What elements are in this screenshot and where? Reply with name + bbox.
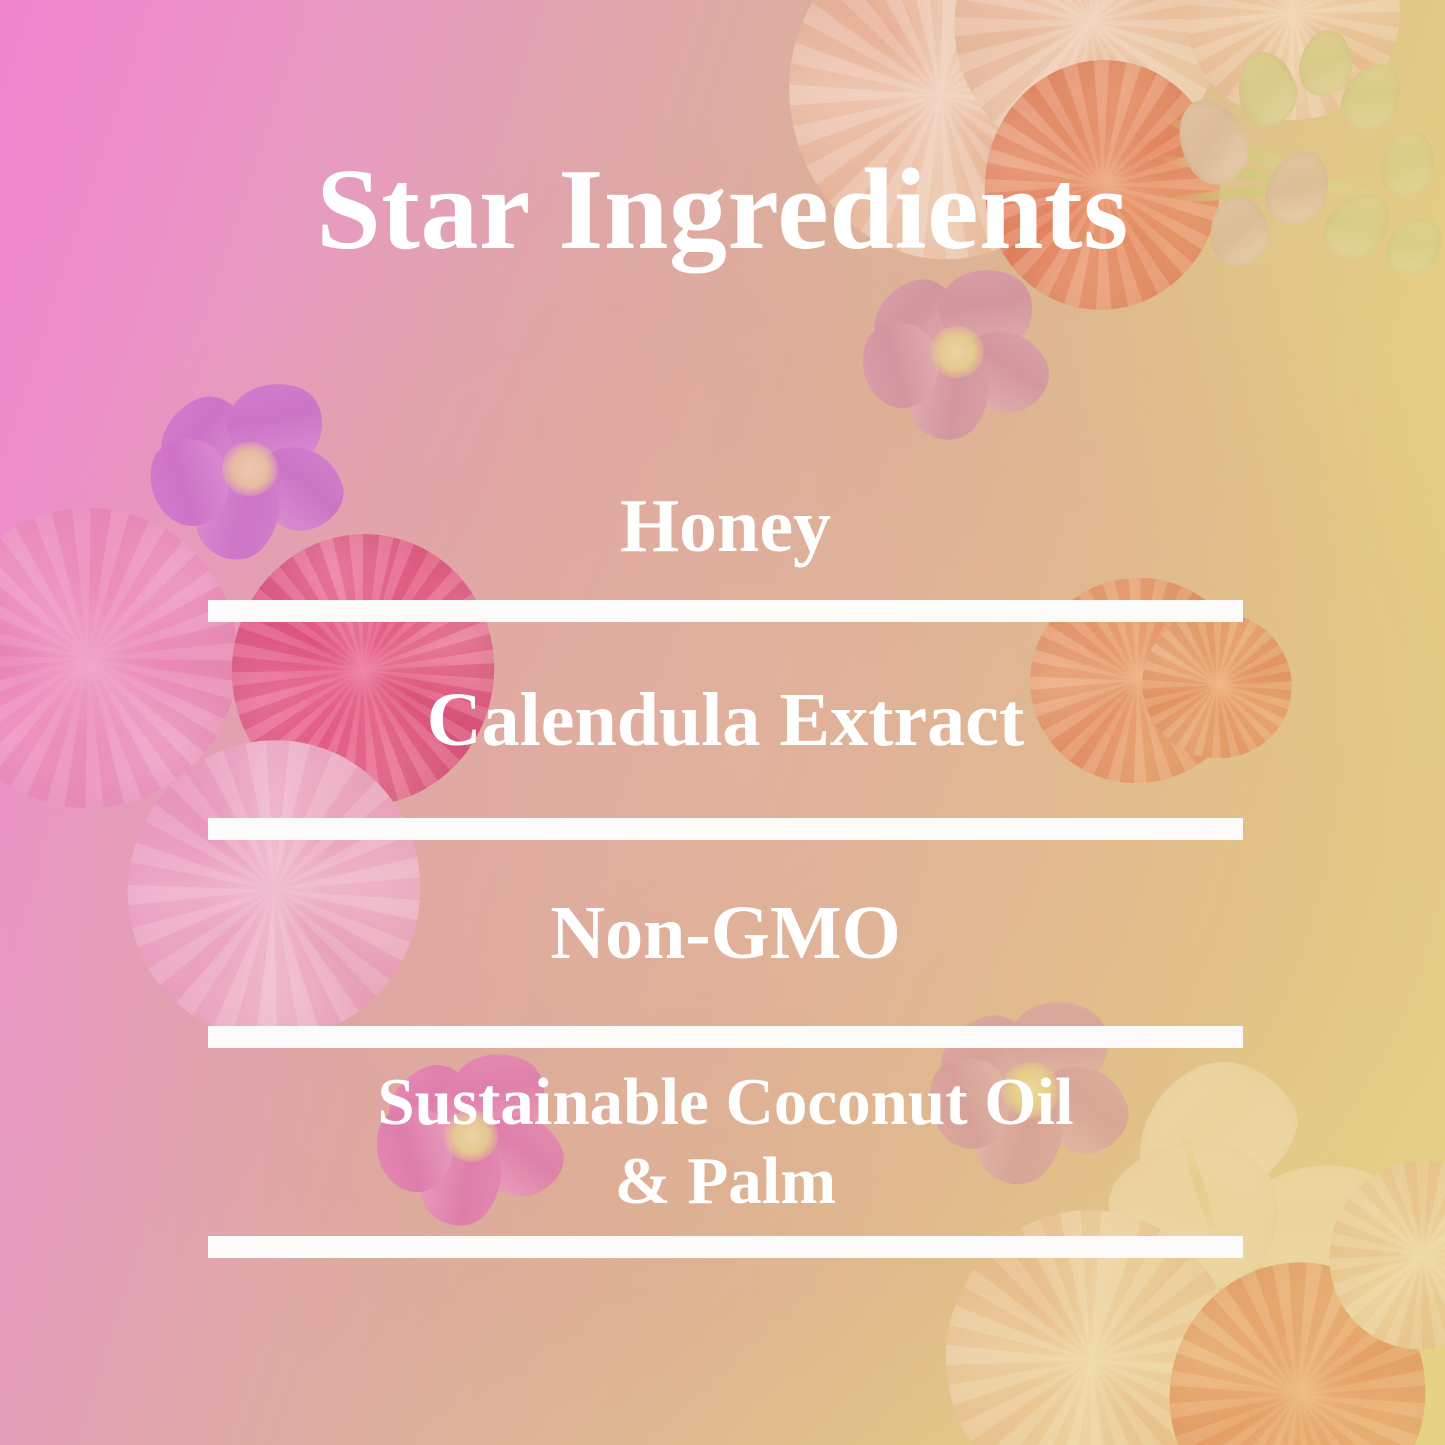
list-item: Honey bbox=[208, 452, 1243, 600]
divider-3 bbox=[208, 1026, 1243, 1048]
list-item: Non-GMO bbox=[208, 840, 1243, 1026]
list-item: Calendula Extract bbox=[208, 622, 1243, 818]
star-ingredients-poster: Star Ingredients Honey Calendula Extract… bbox=[0, 0, 1445, 1445]
ingredient-label-honey: Honey bbox=[620, 485, 831, 567]
ingredient-label-non-gmo: Non-GMO bbox=[550, 892, 900, 974]
page-title: Star Ingredients bbox=[0, 152, 1445, 268]
ingredient-label-calendula-extract: Calendula Extract bbox=[427, 679, 1024, 761]
ingredients-list: Honey Calendula Extract Non-GMO Sustaina… bbox=[208, 452, 1243, 1258]
list-item: Sustainable Coconut Oil & Palm bbox=[208, 1048, 1243, 1236]
divider-1 bbox=[208, 600, 1243, 622]
divider-4 bbox=[208, 1236, 1243, 1258]
ingredient-label-sustainable-coconut-oil-and-palm: Sustainable Coconut Oil & Palm bbox=[377, 1063, 1073, 1221]
poster-content: Star Ingredients Honey Calendula Extract… bbox=[0, 0, 1445, 1445]
divider-2 bbox=[208, 818, 1243, 840]
